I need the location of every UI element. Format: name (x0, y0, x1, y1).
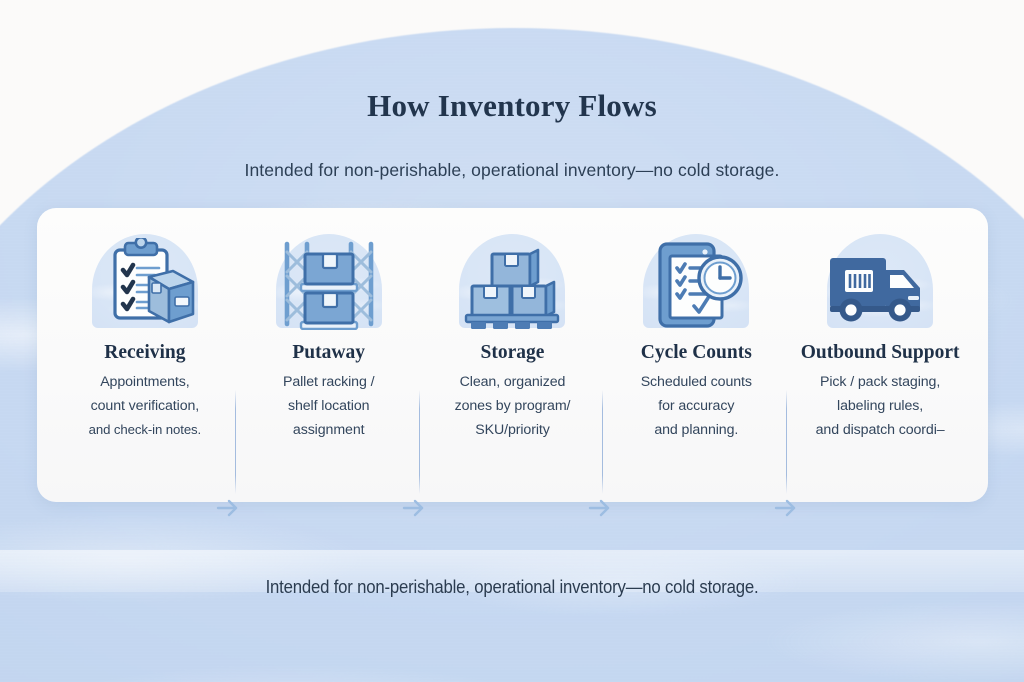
step-outbound-support[interactable]: Outbound Support Pick / pack staging, la… (788, 230, 972, 442)
step-putaway[interactable]: Putaway Pallet racking / shelf location … (237, 230, 421, 442)
step-divider (235, 390, 236, 494)
clipboard-checklist-box-icon (93, 238, 197, 330)
desc-line: assignment (283, 419, 374, 443)
desc-line: Pick / pack staging, (816, 371, 945, 395)
step-divider (602, 390, 603, 494)
desc-line: count verification, (89, 395, 201, 419)
icon-container (446, 230, 578, 330)
step-title: Receiving (104, 342, 185, 364)
infographic-canvas: How Inventory Flows Intended for non-per… (0, 0, 1024, 682)
step-title: Storage (481, 342, 545, 364)
footer-note: Intended for non-perishable, operational… (36, 577, 988, 598)
desc-line: for accuracy (641, 395, 752, 419)
process-steps: Receiving Appointments, count verificati… (37, 208, 988, 502)
step-description: Clean, organized zones by program/ SKU/p… (455, 371, 571, 443)
arrow-right-icon (773, 498, 801, 518)
page-subtitle: Intended for non-perishable, operational… (0, 160, 1024, 181)
step-storage[interactable]: Storage Clean, organized zones by progra… (421, 230, 605, 442)
arrow-right-icon (401, 498, 429, 518)
step-title: Outbound Support (801, 342, 960, 364)
step-description: Scheduled counts for accuracy and planni… (641, 371, 752, 443)
step-divider (786, 390, 787, 494)
desc-line: shelf location (283, 395, 374, 419)
step-description: Pick / pack staging, labeling rules, and… (816, 371, 945, 443)
desc-line: Scheduled counts (641, 371, 752, 395)
page-title: How Inventory Flows (0, 88, 1024, 124)
icon-container (79, 230, 211, 330)
desc-line: zones by program/ (455, 395, 571, 419)
pallet-rack-icon (277, 238, 381, 330)
desc-line: and dispatch coordi– (816, 419, 945, 443)
delivery-truck-icon (824, 238, 936, 330)
step-cycle-counts[interactable]: Cycle Counts Scheduled counts for accura… (604, 230, 788, 442)
box-shape (149, 271, 193, 322)
step-description: Appointments, count verification, and ch… (89, 371, 201, 441)
desc-line: and check-in notes. (89, 419, 201, 441)
step-title: Cycle Counts (641, 342, 752, 364)
desc-line: SKU/priority (455, 419, 571, 443)
icon-container (630, 230, 762, 330)
desc-line: Appointments, (89, 371, 201, 395)
tablet-checklist-clock-icon (644, 238, 748, 330)
arrow-right-icon (215, 498, 243, 518)
icon-container (263, 230, 395, 330)
desc-line: and planning. (641, 419, 752, 443)
step-receiving[interactable]: Receiving Appointments, count verificati… (53, 230, 237, 441)
process-card: Receiving Appointments, count verificati… (37, 208, 988, 502)
icon-container (814, 230, 946, 330)
arrow-right-icon (587, 498, 615, 518)
step-description: Pallet racking / shelf location assignme… (283, 371, 374, 443)
step-divider (419, 390, 420, 494)
stacked-boxes-pallet-icon (460, 238, 564, 330)
desc-line: Clean, organized (455, 371, 571, 395)
desc-line: labeling rules, (816, 395, 945, 419)
desc-line: Pallet racking / (283, 371, 374, 395)
step-title: Putaway (292, 342, 365, 364)
